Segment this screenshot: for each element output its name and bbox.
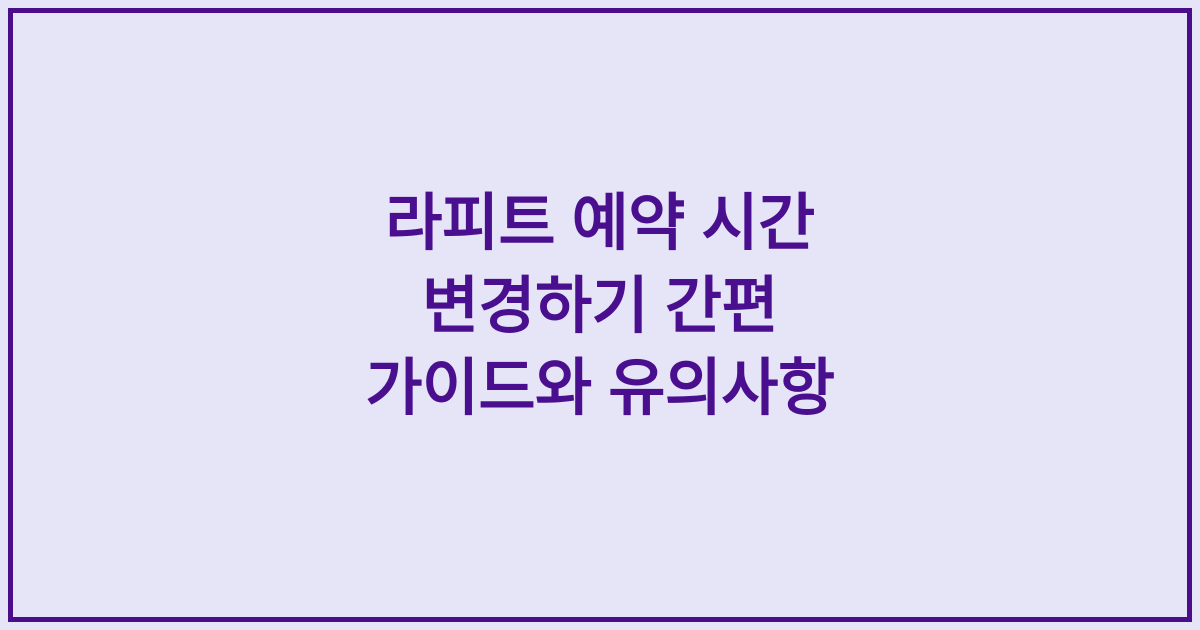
og-card-canvas: 라피트 예약 시간 변경하기 간편 가이드와 유의사항 (0, 0, 1200, 630)
page-title: 라피트 예약 시간 변경하기 간편 가이드와 유의사항 (300, 183, 900, 430)
decorative-border-frame: 라피트 예약 시간 변경하기 간편 가이드와 유의사항 (8, 8, 1192, 622)
title-block: 라피트 예약 시간 변경하기 간편 가이드와 유의사항 (300, 183, 900, 430)
